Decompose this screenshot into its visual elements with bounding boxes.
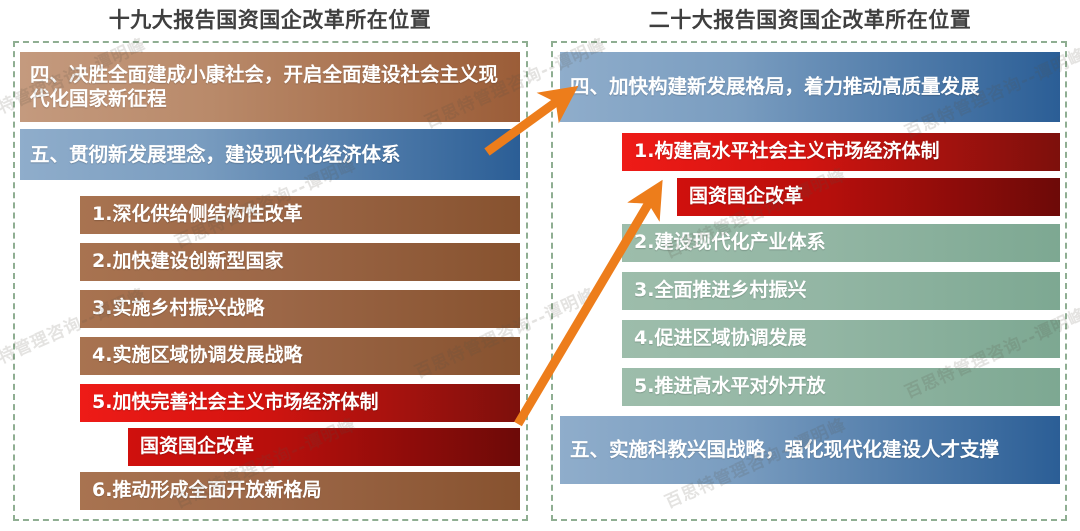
right-item-5-label: 5.推进高水平对外开放 xyxy=(634,375,1048,398)
right-item-3-label: 3.全面推进乡村振兴 xyxy=(634,279,1048,302)
right-item-5[interactable]: 5.推进高水平对外开放 xyxy=(622,368,1060,406)
right-item-chapter-four[interactable]: 四、加快构建新发展格局，着力推动高质量发展 xyxy=(560,52,1060,122)
left-item-1[interactable]: 1.深化供给侧结构性改革 xyxy=(80,196,520,234)
left-item-5-label: 5.加快完善社会主义市场经济体制 xyxy=(92,391,508,414)
right-item-soe-reform[interactable]: 国资国企改革 xyxy=(677,178,1060,216)
right-item-1-label: 1.构建高水平社会主义市场经济体制 xyxy=(634,140,1048,163)
right-item-soe-reform-label: 国资国企改革 xyxy=(689,185,1048,208)
left-item-2-label: 2.加快建设创新型国家 xyxy=(92,250,508,273)
left-item-3-label: 3.实施乡村振兴战略 xyxy=(92,297,508,320)
right-item-2[interactable]: 2.建设现代化产业体系 xyxy=(622,224,1060,262)
page-title-right: 二十大报告国资国企改革所在位置 xyxy=(540,4,1080,34)
left-item-chapter-five-label: 五、贯彻新发展理念，建设现代化经济体系 xyxy=(30,143,510,167)
left-item-chapter-four-label: 四、决胜全面建成小康社会，开启全面建设社会主义现代化国家新征程 xyxy=(30,63,510,111)
left-item-6-label: 6.推动形成全面开放新格局 xyxy=(92,479,508,502)
left-item-2[interactable]: 2.加快建设创新型国家 xyxy=(80,243,520,281)
left-item-4-label: 4.实施区域协调发展战略 xyxy=(92,344,508,367)
left-item-soe-reform[interactable]: 国资国企改革 xyxy=(128,428,520,466)
left-item-5-highlighted[interactable]: 5.加快完善社会主义市场经济体制 xyxy=(80,384,520,422)
left-item-1-label: 1.深化供给侧结构性改革 xyxy=(92,203,508,226)
right-item-chapter-five-label: 五、实施科教兴国战略，强化现代化建设人才支撑 xyxy=(570,438,1050,462)
left-item-chapter-five[interactable]: 五、贯彻新发展理念，建设现代化经济体系 xyxy=(20,129,520,180)
right-item-4-label: 4.促进区域协调发展 xyxy=(634,327,1048,350)
right-item-4[interactable]: 4.促进区域协调发展 xyxy=(622,320,1060,358)
right-item-chapter-four-label: 四、加快构建新发展格局，着力推动高质量发展 xyxy=(570,75,1050,99)
right-item-1-highlighted[interactable]: 1.构建高水平社会主义市场经济体制 xyxy=(622,133,1060,171)
left-item-6[interactable]: 6.推动形成全面开放新格局 xyxy=(80,472,520,510)
right-item-2-label: 2.建设现代化产业体系 xyxy=(634,231,1048,254)
left-item-3[interactable]: 3.实施乡村振兴战略 xyxy=(80,290,520,328)
right-item-3[interactable]: 3.全面推进乡村振兴 xyxy=(622,272,1060,310)
left-item-soe-reform-label: 国资国企改革 xyxy=(140,435,508,458)
right-item-chapter-five[interactable]: 五、实施科教兴国战略，强化现代化建设人才支撑 xyxy=(560,416,1060,484)
left-item-4[interactable]: 4.实施区域协调发展战略 xyxy=(80,337,520,375)
left-item-chapter-four[interactable]: 四、决胜全面建成小康社会，开启全面建设社会主义现代化国家新征程 xyxy=(20,52,520,122)
page-title-left: 十九大报告国资国企改革所在位置 xyxy=(0,4,540,34)
